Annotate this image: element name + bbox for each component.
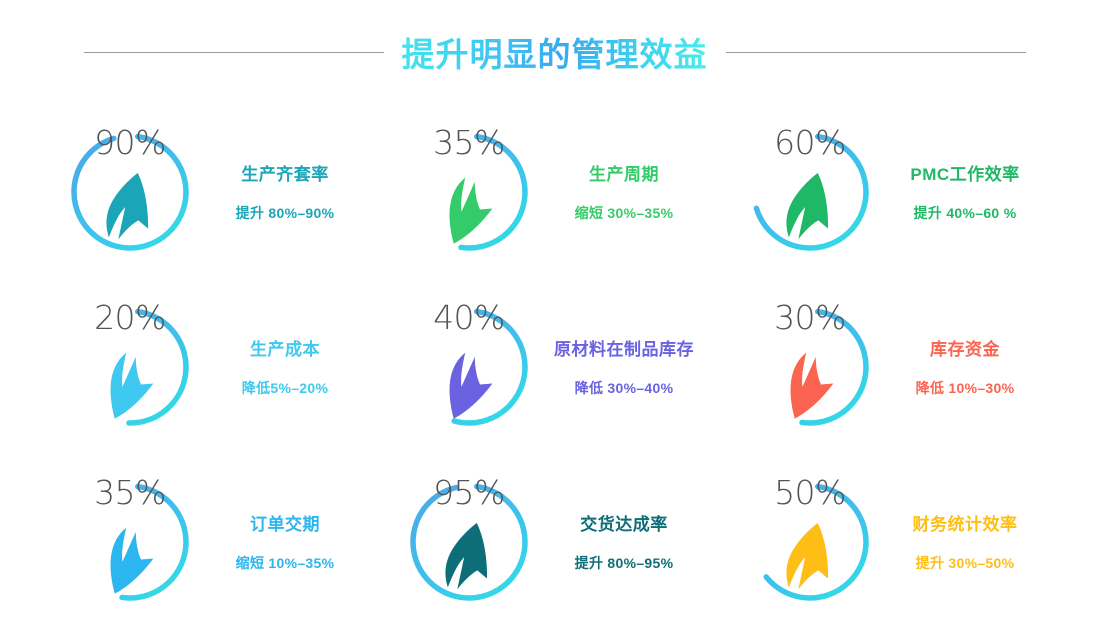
card-detail: 提升 30%–50% (916, 553, 1015, 573)
card-detail: 缩短 10%–35% (236, 553, 335, 573)
gauge-value: 95% (433, 476, 505, 509)
arrow-up-icon (64, 161, 196, 258)
gauge-center: 50% (744, 476, 876, 608)
metric-card[interactable]: 60% PMC工作效率 提升 40%–60 % (728, 104, 1075, 279)
card-text: 库存资金 降低 10%–30% (890, 335, 1040, 398)
metric-grid: 90% 生产齐套率 提升 80%–90% (0, 104, 1109, 629)
card-text: 生产周期 缩短 30%–35% (549, 160, 699, 223)
card-text: PMC工作效率 提升 40%–60 % (890, 160, 1040, 223)
gauge-value: 35% (433, 126, 505, 159)
header-rule-left (84, 52, 384, 53)
gauge: 40% (403, 301, 535, 433)
card-text: 交货达成率 提升 80%–95% (549, 510, 699, 573)
card-label: 生产成本 (250, 335, 320, 360)
gauge-value: 35% (94, 476, 166, 509)
card-detail: 降低5%–20% (242, 378, 328, 398)
gauge-center: 90% (64, 126, 196, 258)
gauge-center: 20% (64, 301, 196, 433)
gauge-value: 40% (433, 301, 505, 334)
gauge-value: 90% (94, 126, 166, 159)
card-label: 原材料在制品库存 (554, 335, 694, 360)
gauge: 90% (64, 126, 196, 258)
gauge: 35% (403, 126, 535, 258)
card-text: 原材料在制品库存 降低 30%–40% (549, 335, 699, 398)
metric-card[interactable]: 95% 交货达成率 提升 80%–95% (381, 454, 728, 629)
gauge: 95% (403, 476, 535, 608)
gauge: 60% (744, 126, 876, 258)
gauge: 50% (744, 476, 876, 608)
gauge-center: 30% (744, 301, 876, 433)
gauge: 30% (744, 301, 876, 433)
gauge: 20% (64, 301, 196, 433)
gauge: 35% (64, 476, 196, 608)
gauge-center: 95% (403, 476, 535, 608)
gauge-center: 40% (403, 301, 535, 433)
arrow-down-icon (64, 336, 196, 433)
card-text: 财务统计效率 提升 30%–50% (890, 510, 1040, 573)
card-label: 生产齐套率 (241, 160, 329, 185)
gauge-value: 20% (94, 301, 166, 334)
card-label: 库存资金 (930, 335, 1000, 360)
arrow-down-icon (403, 161, 535, 258)
arrow-down-icon (744, 336, 876, 433)
gauge-center: 60% (744, 126, 876, 258)
card-label: PMC工作效率 (910, 160, 1019, 185)
metric-card[interactable]: 35% 订单交期 缩短 10%–35% (34, 454, 381, 629)
gauge-value: 60% (774, 126, 846, 159)
card-detail: 降低 30%–40% (575, 378, 674, 398)
arrow-up-icon (744, 511, 876, 608)
card-text: 生产齐套率 提升 80%–90% (210, 160, 360, 223)
gauge-value: 30% (774, 301, 846, 334)
arrow-up-icon (403, 511, 535, 608)
page-title: 提升明显的管理效益 (402, 28, 708, 76)
metric-card[interactable]: 20% 生产成本 降低5%–20% (34, 279, 381, 454)
metric-card[interactable]: 40% 原材料在制品库存 降低 30%–40% (381, 279, 728, 454)
arrow-up-icon (744, 161, 876, 258)
metric-card[interactable]: 35% 生产周期 缩短 30%–35% (381, 104, 728, 279)
gauge-value: 50% (774, 476, 846, 509)
gauge-center: 35% (64, 476, 196, 608)
arrow-down-icon (64, 511, 196, 608)
header-rule-right (726, 52, 1026, 53)
card-label: 订单交期 (250, 510, 320, 535)
metric-card[interactable]: 90% 生产齐套率 提升 80%–90% (34, 104, 381, 279)
card-detail: 提升 40%–60 % (914, 203, 1017, 223)
metric-card[interactable]: 30% 库存资金 降低 10%–30% (728, 279, 1075, 454)
gauge-center: 35% (403, 126, 535, 258)
page-header: 提升明显的管理效益 (0, 0, 1109, 104)
card-label: 生产周期 (589, 160, 659, 185)
arrow-down-icon (403, 336, 535, 433)
metric-card[interactable]: 50% 财务统计效率 提升 30%–50% (728, 454, 1075, 629)
card-detail: 降低 10%–30% (916, 378, 1015, 398)
card-text: 订单交期 缩短 10%–35% (210, 510, 360, 573)
card-label: 交货达成率 (580, 510, 668, 535)
card-text: 生产成本 降低5%–20% (210, 335, 360, 398)
card-detail: 提升 80%–90% (236, 203, 335, 223)
card-detail: 缩短 30%–35% (575, 203, 674, 223)
card-label: 财务统计效率 (913, 510, 1018, 535)
card-detail: 提升 80%–95% (575, 553, 674, 573)
